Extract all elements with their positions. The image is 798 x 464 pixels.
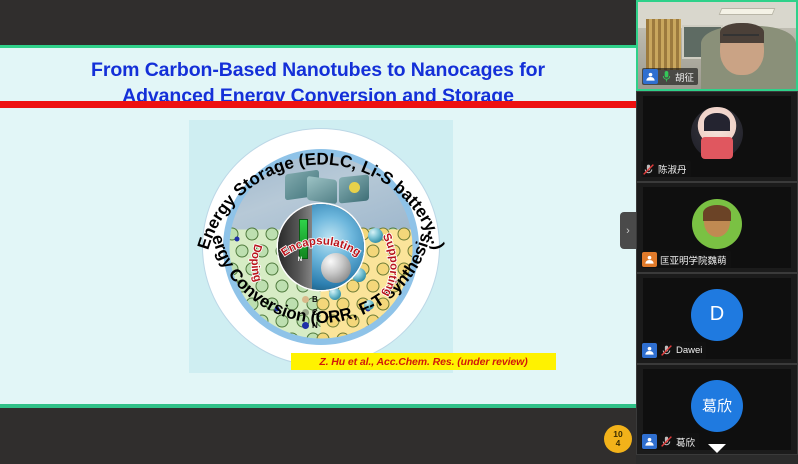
lattice-atom [317,332,330,338]
page-number-badge: 10 4 [604,425,632,453]
metal-sphere-1 [368,228,383,243]
lattice-atom [387,280,400,293]
lattice-atom [230,262,239,275]
lattice-atom [246,297,259,310]
legend-dot-n [302,322,309,329]
lattice-atom [397,297,410,310]
slide-title-line-1: From Carbon-Based Nanotubes to Nanocages… [0,57,636,83]
avatar-hair-2 [703,205,731,221]
participant-tile-1[interactable]: 陈淑丹 [636,91,798,182]
participant-name-bar-0: 胡征 [642,68,698,85]
scroll-down-arrow-icon[interactable] [708,444,726,453]
microphone-muted-icon [642,163,655,176]
toc-graphic: N B C [189,120,453,373]
participant-name-3: Dawei [676,345,702,356]
lattice-atom [397,227,410,240]
lattice-atom [337,297,350,310]
center-n-label: N [298,257,302,263]
participant-name-bar-1: 陈淑丹 [641,161,691,177]
encapsulated-particle [321,253,351,283]
participant-name-bar-2: 匡亚明学院魏萌 [641,251,731,268]
lattice-atom [236,280,249,293]
lattice-atom [367,280,380,293]
person-icon [642,252,657,267]
avatar-image-1 [691,107,743,159]
lattice-atom [317,297,330,310]
legend-label-c: C [312,306,318,319]
lattice-atom [377,332,390,338]
metal-sphere-4 [364,300,374,310]
slide-bottom-accent-line [0,404,636,408]
person-icon [642,343,657,358]
lattice-atom [407,245,412,258]
participant-name-bar-4: 葛欣 [641,433,699,450]
slide-top-accent-line [0,45,636,48]
legend-dot-c [302,309,309,316]
lattice-atom [377,297,390,310]
lattice-atom [347,315,360,328]
person-icon [643,69,658,84]
lattice-atom [230,332,239,338]
lattice-atom [286,332,299,338]
lattice-atom [276,315,289,328]
lattice-atom [367,315,380,328]
lattice-atom [387,245,400,258]
nitrogen-atom [254,271,259,276]
participant-rail[interactable]: 胡征 陈淑丹 [636,0,798,464]
atom-legend: B C N [302,293,318,332]
legend-item-b: B [302,293,318,306]
lattice-atom [246,227,259,240]
legend-label-b: B [312,293,318,306]
window-curtain [646,19,681,69]
shared-screen-stage: From Carbon-Based Nanotubes to Nanocages… [0,0,636,464]
lattice-atom [407,315,412,328]
nitrogen-atom [274,306,279,311]
legend-dot-b [302,296,309,303]
lattice-atom [407,280,412,293]
person-glasses [723,34,759,43]
lattice-atom [387,315,400,328]
participant-tile-4[interactable]: 葛欣 葛欣 [636,364,798,455]
microphone-muted-icon [660,344,673,357]
legend-item-c: C [302,306,318,319]
participant-tile-3[interactable]: D Dawei [636,273,798,364]
lattice-atom [397,262,410,275]
participant-name-1: 陈淑丹 [658,162,687,176]
lattice-atom [266,262,279,275]
toc-graphic-inner: N B C [189,120,453,373]
lattice-atom [286,297,299,310]
avatar-initial-4: 葛欣 [691,380,743,432]
collapse-panel-button[interactable]: › [620,212,636,249]
lattice-atom [236,245,249,258]
participant-name-4: 葛欣 [676,435,695,449]
participant-name-bar-3: Dawei [641,342,706,359]
lattice-atom [397,332,410,338]
lattice-atom [266,227,279,240]
title-divider-rule [0,101,636,108]
participant-name-0: 胡征 [675,70,694,84]
avatar-initial-3: D [691,289,743,341]
presentation-slide: From Carbon-Based Nanotubes to Nanocages… [0,45,636,408]
nitrogen-atom [234,236,239,241]
lattice-atom [266,332,279,338]
avatar-hair [704,113,730,131]
battery-cube-center [307,176,337,204]
lattice-atom [327,315,340,328]
lattice-atom [357,332,370,338]
green-rod-marker [299,219,308,259]
meeting-screenshare-window: From Carbon-Based Nanotubes to Nanocages… [0,0,798,464]
page-number-total: 4 [616,439,621,448]
citation-banner: Z. Hu et al., Acc.Chem. Res. (under revi… [291,353,556,370]
participant-name-2: 匡亚明学院魏萌 [660,253,727,267]
lattice-atom [367,245,380,258]
participant-tile-2[interactable]: 匡亚明学院魏萌 [636,182,798,273]
microphone-muted-icon [660,435,673,448]
tem-dark-region [278,204,314,290]
microphone-on-icon [661,70,672,83]
lattice-atom [256,315,269,328]
sulfur-dot [349,182,360,193]
lattice-atom [337,332,350,338]
lattice-atom [256,280,269,293]
lattice-atom [230,297,239,310]
lattice-atom [256,245,269,258]
legend-item-n: N [302,319,318,332]
center-tem-image: N [278,204,364,290]
avatar-book [701,137,733,159]
chevron-right-icon: › [626,225,630,237]
lattice-atom [246,332,259,338]
metal-sphere-3 [329,288,341,300]
lattice-atom [236,315,249,328]
participant-tile-0[interactable]: 胡征 [636,0,798,91]
lattice-atom [377,262,390,275]
ceiling-light [719,8,776,15]
avatar-image-2 [692,199,742,249]
legend-label-n: N [312,319,318,332]
person-icon [642,434,657,449]
